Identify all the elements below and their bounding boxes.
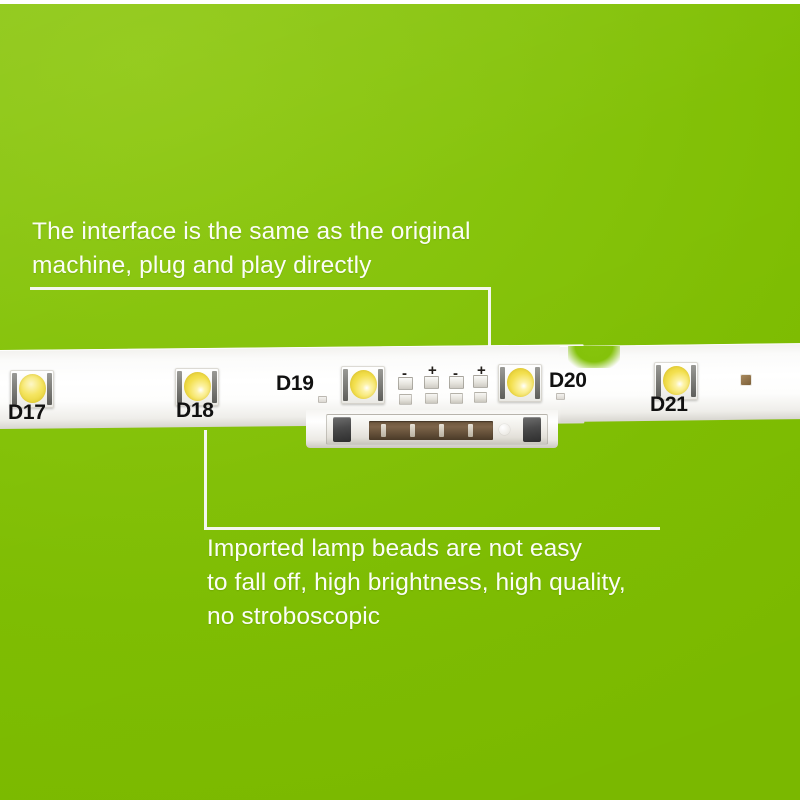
led-electrode-right bbox=[378, 369, 383, 401]
solder-pad-lower bbox=[474, 392, 487, 403]
led-phosphor bbox=[663, 366, 690, 395]
connector-pin bbox=[381, 424, 386, 437]
connector-pin bbox=[439, 424, 444, 437]
connector-latch-left bbox=[333, 417, 351, 442]
connector-contact-slot bbox=[369, 421, 493, 440]
bottom-callout-horizontal-line bbox=[204, 527, 660, 530]
screenshot-canvas: The interface is the same as the origina… bbox=[0, 0, 800, 800]
led-label-d18: D18 bbox=[176, 400, 214, 421]
led-label-d19: D19 bbox=[276, 373, 314, 394]
solder-pad-upper bbox=[398, 377, 413, 390]
led-electrode-left bbox=[343, 369, 348, 401]
small-pad bbox=[556, 393, 565, 400]
bottom-callout-vertical-line bbox=[204, 430, 207, 529]
led-label-d20: D20 bbox=[549, 370, 587, 391]
led-electrode-right bbox=[47, 373, 52, 405]
led-phosphor bbox=[507, 368, 534, 397]
connector-keying-dot bbox=[499, 424, 510, 435]
led-electrode-right bbox=[535, 367, 540, 399]
led-phosphor bbox=[184, 372, 211, 401]
led-electrode-right bbox=[691, 365, 696, 397]
solder-pad-lower bbox=[399, 394, 412, 405]
led-bead-d19 bbox=[341, 366, 385, 404]
led-bead-d20 bbox=[498, 364, 542, 402]
strip-test-point bbox=[741, 375, 751, 385]
solder-pad-lower bbox=[425, 393, 438, 404]
strip-notch bbox=[568, 346, 620, 368]
solder-pad-upper bbox=[473, 375, 488, 388]
top-callout-horizontal-line bbox=[30, 287, 491, 290]
led-electrode-left bbox=[500, 367, 505, 399]
bottom-callout-text: Imported lamp beads are not easy to fall… bbox=[207, 532, 727, 634]
top-callout-text: The interface is the same as the origina… bbox=[32, 215, 552, 283]
small-pad bbox=[318, 396, 327, 403]
solder-pad-upper bbox=[449, 376, 464, 389]
connector-latch-right bbox=[523, 417, 541, 442]
top-white-band bbox=[0, 0, 800, 4]
led-label-d17: D17 bbox=[8, 402, 46, 423]
led-label-d21: D21 bbox=[650, 394, 688, 415]
connector-pin bbox=[410, 424, 415, 437]
connector-pin bbox=[468, 424, 473, 437]
led-strip: - + - + bbox=[0, 336, 800, 481]
solder-pad-lower bbox=[450, 393, 463, 404]
led-phosphor bbox=[19, 374, 46, 403]
solder-pad-upper bbox=[424, 376, 439, 389]
connector-housing bbox=[326, 414, 548, 445]
led-phosphor bbox=[350, 370, 377, 399]
